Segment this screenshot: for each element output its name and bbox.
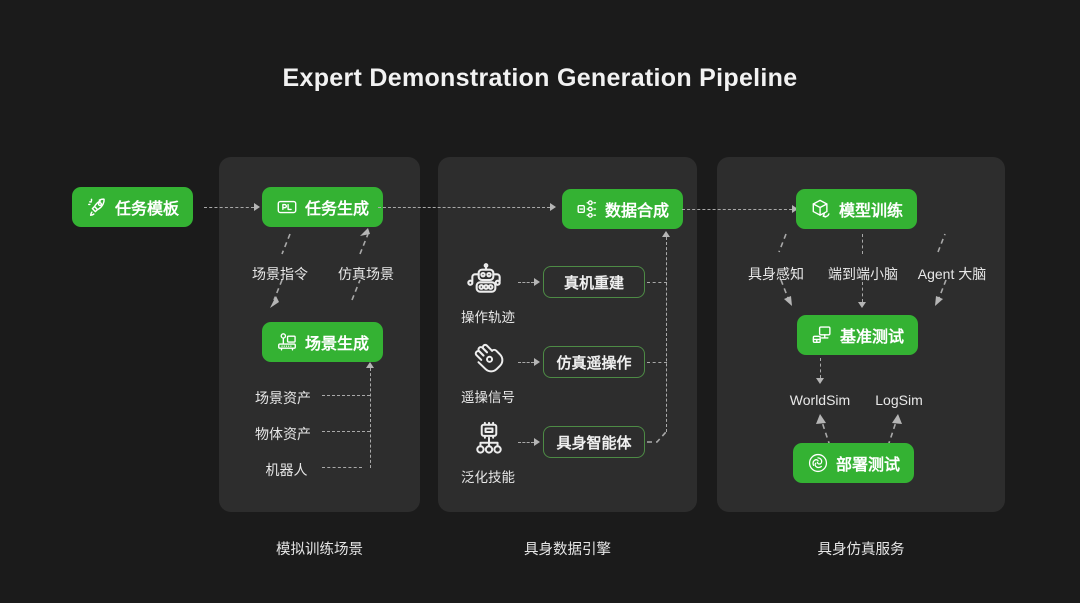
input-label-object-assets: 物体资产	[249, 424, 317, 444]
input-label-robot: 机器人	[256, 460, 317, 480]
connector-robot-bus	[322, 467, 362, 468]
connector-synthesis-to-training	[682, 209, 792, 210]
arrowhead	[534, 358, 540, 366]
pill-task-template[interactable]: 任务模板	[72, 187, 193, 227]
connector-box1-to-bus	[647, 282, 667, 283]
caption-column-1: 模拟训练场景	[219, 538, 420, 559]
arrowhead	[858, 302, 866, 308]
box-label: 仿真遥操作	[556, 352, 631, 373]
label-logsim: LogSim	[866, 392, 932, 408]
chip-net-icon	[470, 420, 508, 458]
arrowhead	[816, 378, 824, 384]
box-label: 具身智能体	[556, 432, 631, 453]
arrowhead	[534, 278, 540, 286]
connector-chip-to-box	[518, 442, 534, 443]
connector-scenegen-up-right	[330, 232, 410, 322]
box-label: 真机重建	[564, 272, 624, 293]
connector-training-to-perception	[770, 232, 810, 322]
pill-task-generation[interactable]: 任务生成	[262, 187, 383, 227]
spiral-circle-icon	[807, 452, 829, 474]
arrowhead	[366, 362, 374, 368]
workstation-icon	[276, 331, 298, 353]
synthesis-bus-vertical	[666, 237, 667, 432]
pill-data-synthesis[interactable]: 数据合成	[562, 189, 683, 229]
pill-label: 数据合成	[605, 197, 669, 221]
page-title: Expert Demonstration Generation Pipeline	[0, 64, 1080, 93]
pill-label: 基准测试	[840, 323, 904, 347]
pill-label: 任务模板	[115, 195, 179, 219]
pill-label: 模型训练	[839, 197, 903, 221]
connector-robot-to-box	[518, 282, 534, 283]
connector-glove-to-box	[518, 362, 534, 363]
rocket-icon	[86, 196, 108, 218]
pill-deployment-test[interactable]: 部署测试	[793, 443, 914, 483]
label-end-to-end-cerebellum: 端到端小脑	[818, 264, 908, 284]
pill-label: 场景生成	[305, 330, 369, 354]
connector-benchmark-to-worldsim	[820, 358, 821, 378]
caption-column-3: 具身仿真服务	[717, 538, 1005, 559]
source-label-generalization-skill: 泛化技能	[460, 466, 516, 486]
pill-label: 任务生成	[305, 195, 369, 219]
connector-box2-to-bus	[647, 362, 667, 363]
pipeline-badge-icon	[276, 196, 298, 218]
connector-cerebellum-to-benchmark	[862, 282, 863, 302]
connector-template-to-taskgen	[204, 207, 254, 208]
connector-scene-assets-bus	[322, 395, 370, 396]
input-label-scene-assets: 场景资产	[249, 388, 317, 408]
pill-model-training[interactable]: 模型训练	[796, 189, 917, 229]
arrowhead	[550, 203, 556, 211]
pill-benchmark-test[interactable]: 基准测试	[797, 315, 918, 355]
input-bus-vertical	[370, 368, 371, 468]
box-real-machine-reconstruction[interactable]: 真机重建	[543, 266, 645, 298]
cube-refresh-icon	[810, 198, 832, 220]
label-worldsim: WorldSim	[780, 392, 860, 408]
arrowhead	[254, 203, 260, 211]
box-embodied-agent[interactable]: 具身智能体	[543, 426, 645, 458]
source-label-teleop-signal: 遥操信号	[460, 386, 516, 406]
connector-training-to-agent-brain	[920, 232, 960, 322]
diagram-canvas: Expert Demonstration Generation Pipeline…	[0, 0, 1080, 603]
source-label-operation-trajectory: 操作轨迹	[460, 306, 516, 326]
robot-icon	[466, 262, 506, 302]
connector-taskgen-to-synthesis	[378, 207, 550, 208]
glove-icon	[468, 340, 506, 378]
benchmark-screen-icon	[811, 324, 833, 346]
connector-object-assets-bus	[322, 431, 370, 432]
connector-taskgen-down-left	[238, 232, 318, 322]
arrowhead	[534, 438, 540, 446]
box-simulated-teleoperation[interactable]: 仿真遥操作	[543, 346, 645, 378]
arrowhead	[662, 231, 670, 237]
connector-box3-to-bus	[645, 430, 675, 452]
pill-scene-generation[interactable]: 场景生成	[262, 322, 383, 362]
pill-label: 部署测试	[836, 451, 900, 475]
connector-training-to-cerebellum	[862, 234, 863, 254]
data-nodes-icon	[576, 198, 598, 220]
caption-column-2: 具身数据引擎	[438, 538, 697, 559]
